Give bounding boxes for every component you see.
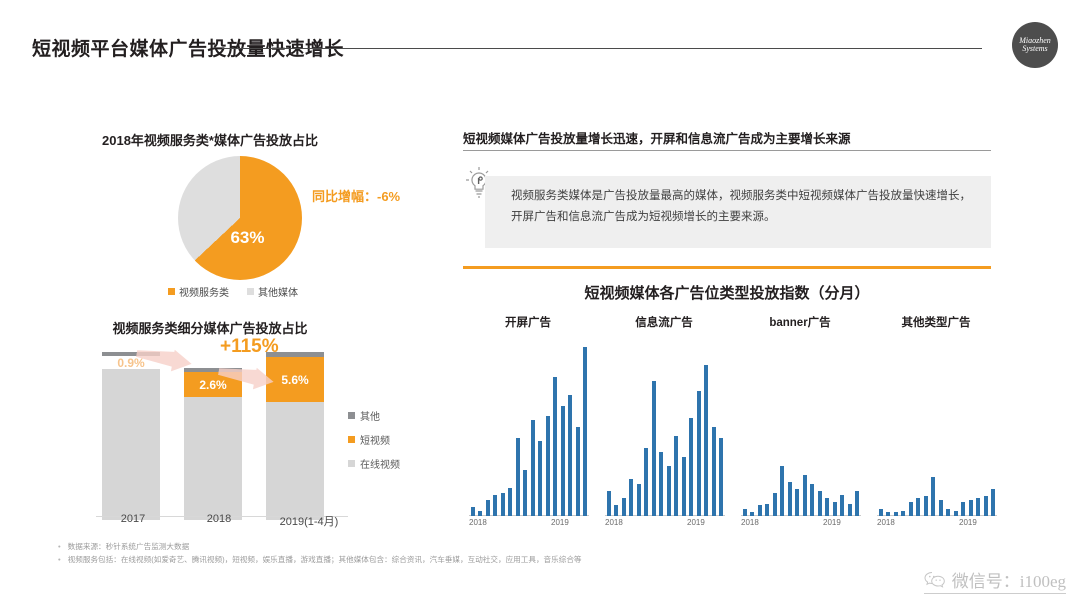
pie-value-label: 63% bbox=[230, 228, 264, 248]
bar bbox=[486, 500, 490, 516]
x-tick-2019: 2019 bbox=[687, 518, 705, 527]
panel-banner: banner广告 2018 2019 bbox=[735, 314, 865, 540]
bar bbox=[553, 377, 557, 516]
bar-plot-banner bbox=[741, 338, 861, 516]
panel-xinxiliu: 信息流广告 2018 2019 bbox=[599, 314, 729, 540]
bar bbox=[697, 391, 701, 516]
bar-column-2017: 0.9% bbox=[102, 352, 160, 520]
panel-kaiping: 开屏广告 2018 2019 bbox=[463, 314, 593, 540]
stacked-bar-legend: 其他 短视频 在线视频 bbox=[348, 408, 400, 480]
segment-value: 5.6% bbox=[281, 373, 308, 387]
footnote-source: 数据来源：秒针系统广告监测大数据 bbox=[68, 541, 190, 554]
bar bbox=[523, 470, 527, 516]
bar bbox=[984, 496, 988, 516]
bar bbox=[758, 505, 762, 516]
x-tick-2019: 2019 bbox=[823, 518, 841, 527]
bar bbox=[765, 504, 769, 516]
right-headline: 短视频媒体广告投放量增长迅速，开屏和信息流广告成为主要增长来源 bbox=[463, 128, 991, 147]
section-accent-rule bbox=[463, 266, 991, 269]
x-tick-2018: 2018 bbox=[469, 518, 487, 527]
legend-swatch-short-video bbox=[348, 436, 355, 443]
bar bbox=[719, 438, 723, 516]
bar bbox=[659, 452, 663, 516]
wechat-watermark: 微信号：i100eg bbox=[924, 567, 1066, 594]
bar bbox=[614, 505, 618, 516]
footnote-row: • 视频服务包括：在线视频(如爱奇艺、腾讯视频)，短视频，娱乐直播，游戏直播；其… bbox=[58, 554, 758, 567]
x-tick-2019: 2019 bbox=[551, 518, 569, 527]
bar bbox=[637, 484, 641, 516]
bar bbox=[901, 511, 905, 516]
wechat-icon bbox=[924, 571, 946, 589]
bar bbox=[629, 479, 633, 516]
bar bbox=[803, 475, 807, 516]
bar bbox=[704, 365, 708, 516]
bar bbox=[961, 502, 965, 516]
bullet-glyph: • bbox=[58, 554, 61, 567]
x-tick-2019: 2019 bbox=[959, 518, 977, 527]
bar bbox=[674, 436, 678, 516]
bar bbox=[652, 381, 656, 516]
bar bbox=[991, 489, 995, 516]
bar bbox=[773, 493, 777, 516]
bar bbox=[516, 438, 520, 516]
bar bbox=[833, 502, 837, 516]
right-headline-divider bbox=[463, 150, 991, 151]
slide-root: 短视频平台媒体广告投放量快速增长 Miaozhen Systems 2018年视… bbox=[0, 0, 1080, 608]
bar bbox=[825, 498, 829, 516]
bar bbox=[493, 495, 497, 516]
section-title: 短视频媒体各广告位类型投放指数（分月） bbox=[463, 282, 991, 303]
bar bbox=[924, 496, 928, 516]
bar bbox=[607, 491, 611, 516]
footnote-definition: 视频服务包括：在线视频(如爱奇艺、腾讯视频)，短视频，娱乐直播，游戏直播；其他媒… bbox=[68, 554, 582, 567]
right-column: 短视频媒体广告投放量增长迅速，开屏和信息流广告成为主要增长来源 视频服务类媒体是… bbox=[455, 0, 1015, 608]
bar bbox=[689, 418, 693, 516]
logo-line-2: Systems bbox=[1022, 45, 1047, 53]
segment-value: 2.6% bbox=[199, 378, 226, 392]
x-label: 2019(1-4月) bbox=[260, 513, 358, 529]
bar bbox=[795, 489, 799, 516]
miaozhen-logo: Miaozhen Systems bbox=[1012, 22, 1058, 68]
legend-label: 视频服务类 bbox=[179, 284, 229, 299]
legend-label: 其他媒体 bbox=[258, 284, 298, 299]
bar bbox=[667, 466, 671, 516]
bar bbox=[471, 507, 475, 516]
bar-x-axis: 2017 2018 2019(1-4月) bbox=[88, 513, 358, 529]
bar bbox=[478, 511, 482, 516]
segment-online-video bbox=[266, 402, 324, 520]
legend-item: 在线视频 bbox=[348, 456, 400, 471]
bar bbox=[682, 457, 686, 516]
footnotes: • 数据来源：秒针系统广告监测大数据 • 视频服务包括：在线视频(如爱奇艺、腾讯… bbox=[58, 541, 758, 567]
x-label: 2017 bbox=[88, 513, 178, 529]
bar bbox=[818, 491, 822, 516]
bar bbox=[576, 427, 580, 516]
legend-swatch-online-video bbox=[348, 460, 355, 467]
bar bbox=[568, 395, 572, 516]
x-tick-2018: 2018 bbox=[877, 518, 895, 527]
pie-yoy-annotation: 同比增幅：-6% bbox=[312, 186, 400, 205]
legend-item: 其他 bbox=[348, 408, 400, 423]
bar bbox=[810, 484, 814, 516]
bar bbox=[916, 498, 920, 516]
legend-swatch-other-media bbox=[247, 288, 254, 295]
bar bbox=[508, 488, 512, 516]
bar bbox=[954, 511, 958, 516]
bar bbox=[894, 512, 898, 516]
bar bbox=[969, 500, 973, 516]
x-label: 2018 bbox=[178, 513, 260, 529]
footnote-row: • 数据来源：秒针系统广告监测大数据 bbox=[58, 541, 758, 554]
bar bbox=[931, 477, 935, 516]
segment-online-video bbox=[102, 369, 160, 520]
pie-legend: 视频服务类 其他媒体 bbox=[168, 284, 348, 299]
panel-title: 开屏广告 bbox=[463, 314, 593, 330]
segment-online-video bbox=[184, 397, 242, 520]
legend-swatch-video-service bbox=[168, 288, 175, 295]
legend-label: 其他 bbox=[360, 408, 380, 423]
bar bbox=[501, 493, 505, 516]
legend-item: 短视频 bbox=[348, 432, 400, 447]
left-column: 2018年视频服务类*媒体广告投放占比 63% 同比增幅：-6% 视频服务类 其… bbox=[0, 0, 448, 608]
legend-label: 短视频 bbox=[360, 432, 390, 447]
bar bbox=[939, 500, 943, 516]
bar bbox=[946, 509, 950, 516]
callout-text: 视频服务类媒体是广告投放量最高的媒体，视频服务类中短视频媒体广告投放量快速增长，… bbox=[511, 186, 981, 229]
bar bbox=[622, 498, 626, 516]
bullet-glyph: • bbox=[58, 541, 61, 554]
legend-item: 其他媒体 bbox=[247, 284, 298, 299]
pie-slices bbox=[178, 156, 302, 280]
pie-chart-title: 2018年视频服务类*媒体广告投放占比 bbox=[0, 130, 420, 149]
bar bbox=[531, 420, 535, 516]
bar-plot-other bbox=[877, 338, 997, 516]
bar-column-2019: 5.6% bbox=[266, 352, 324, 520]
bar bbox=[712, 427, 716, 516]
legend-label: 在线视频 bbox=[360, 456, 400, 471]
bar bbox=[788, 482, 792, 516]
bar bbox=[750, 512, 754, 516]
watermark-text: 微信号：i100eg bbox=[952, 567, 1066, 592]
bar bbox=[780, 466, 784, 516]
bar bbox=[583, 347, 587, 516]
bar-plot-kaiping bbox=[469, 338, 589, 516]
stacked-bar-title: 视频服务类细分媒体广告投放占比 bbox=[0, 318, 420, 337]
bar bbox=[538, 441, 542, 516]
bar bbox=[743, 509, 747, 516]
bar bbox=[546, 416, 550, 516]
bar-plot-xinxiliu bbox=[605, 338, 725, 516]
bar bbox=[644, 448, 648, 516]
segment-short-video: 5.6% bbox=[266, 357, 324, 402]
bar bbox=[976, 498, 980, 516]
panel-title: banner广告 bbox=[735, 314, 865, 330]
stacked-bar-chart: 0.9% 2.6% 5.6% bbox=[96, 340, 336, 520]
panel-title: 其他类型广告 bbox=[871, 314, 1001, 330]
bar bbox=[879, 509, 883, 516]
x-tick-2018: 2018 bbox=[605, 518, 623, 527]
bar bbox=[886, 512, 890, 516]
pie-chart: 63% bbox=[178, 156, 302, 280]
bar bbox=[848, 504, 852, 516]
x-tick-2018: 2018 bbox=[741, 518, 759, 527]
bar bbox=[855, 491, 859, 516]
bar bbox=[909, 502, 913, 516]
monthly-index-charts: 开屏广告 2018 2019 信息流广告 2018 2019 banner广告 bbox=[463, 314, 1003, 540]
bar-column-2018: 2.6% bbox=[184, 368, 242, 520]
bar bbox=[840, 495, 844, 516]
legend-swatch-other bbox=[348, 412, 355, 419]
panel-title: 信息流广告 bbox=[599, 314, 729, 330]
bar bbox=[561, 406, 565, 516]
panel-other: 其他类型广告 2018 2019 bbox=[871, 314, 1001, 540]
legend-item: 视频服务类 bbox=[168, 284, 229, 299]
